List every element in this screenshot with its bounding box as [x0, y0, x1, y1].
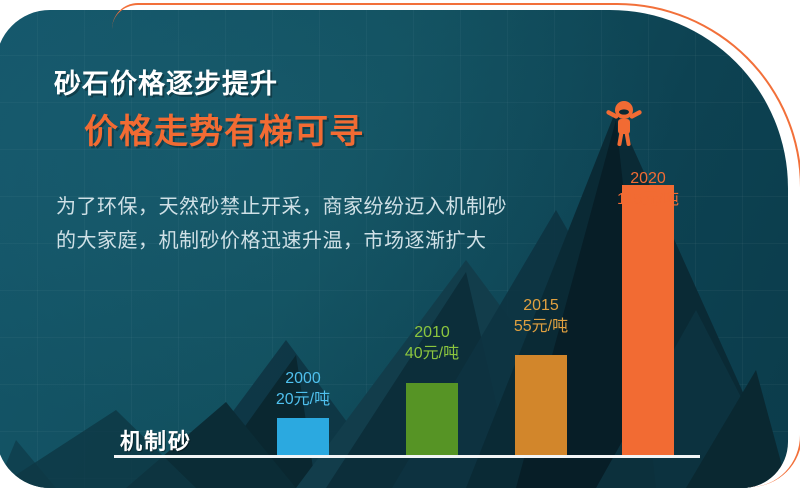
person-celebrating-icon [604, 100, 644, 148]
bar-year-2015: 2015 [471, 295, 611, 316]
body-paragraph: 为了环保，天然砂禁止开采，商家纷纷迈入机制砂的大家庭，机制砂价格迅速升温，市场逐… [56, 190, 526, 258]
bar-2015[interactable] [515, 355, 567, 455]
bar-year-2000: 2000 [233, 368, 373, 389]
bar-price-2000: 20元/吨 [233, 389, 373, 410]
bar-2000[interactable] [277, 418, 329, 455]
bar-label-2015: 2015 55元/吨 [471, 295, 611, 337]
bar-price-2015: 55元/吨 [471, 316, 611, 337]
bar-price-2010: 40元/吨 [362, 343, 502, 364]
bar-year-2020: 2020 [578, 168, 718, 189]
category-label: 机制砂 [120, 424, 192, 456]
bar-label-2020: 2020 115元/吨 [578, 168, 718, 210]
headline-secondary: 价格走势有梯可寻 [84, 104, 364, 153]
chart-baseline-axis [114, 455, 700, 458]
bar-2020[interactable] [622, 185, 674, 455]
bar-label-2000: 2000 20元/吨 [233, 368, 373, 410]
bar-2010[interactable] [406, 383, 458, 455]
bar-price-2020: 115元/吨 [578, 189, 718, 210]
headline-primary: 砂石价格逐步提升 [54, 62, 278, 101]
infographic-canvas: 砂石价格逐步提升 价格走势有梯可寻 为了环保，天然砂禁止开采，商家纷纷迈入机制砂… [0, 0, 800, 490]
